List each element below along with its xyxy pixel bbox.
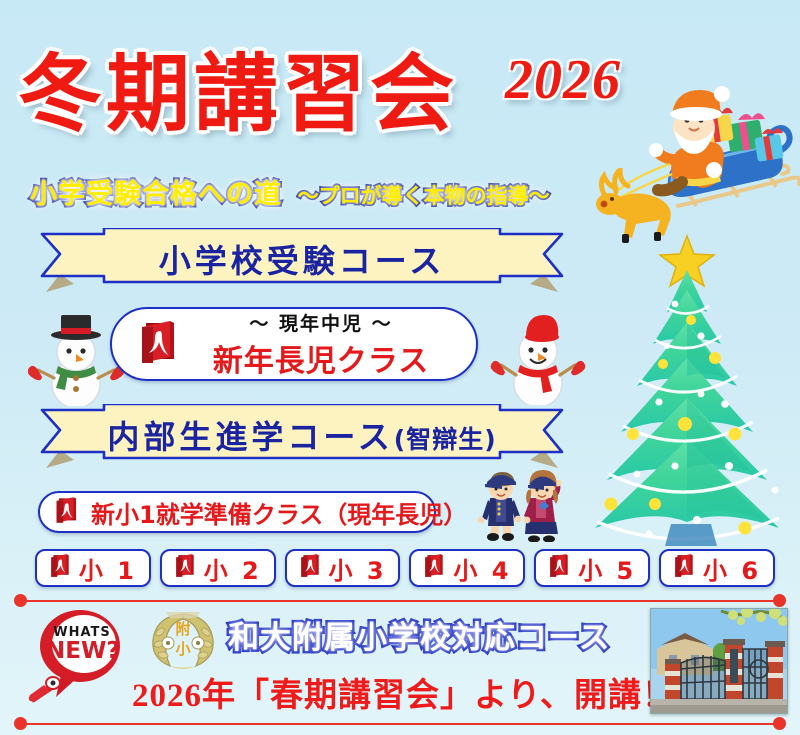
news-divider-bottom — [14, 717, 786, 731]
pdf-icon — [174, 553, 198, 583]
grade-button[interactable]: 小 6 — [659, 549, 775, 587]
svg-text:附: 附 — [175, 620, 190, 638]
snowman-tophat-icon — [28, 308, 124, 406]
christmas-tree-icon — [575, 228, 800, 558]
pdf-icon — [423, 553, 447, 583]
class-main-label: 新年長児クラス — [192, 336, 450, 380]
prep-class-label: 新小1就学準備クラス（現年長児） — [91, 495, 467, 530]
pdf-icon — [673, 553, 697, 583]
grade-button[interactable]: 小 1 — [35, 549, 151, 587]
pdf-icon — [138, 319, 182, 370]
school-emblem-icon: 附 小 — [144, 606, 222, 674]
new-nencho-labels: ～ 現年中児 ～ 新年長児クラス — [192, 309, 450, 380]
class-sub-label: ～ 現年中児 ～ — [192, 309, 450, 336]
news-title: 和大附属小学校対応コース — [228, 612, 610, 657]
pdf-icon — [299, 553, 323, 583]
course-banner-1: 小学校受験コース — [22, 228, 582, 292]
pdf-icon — [548, 553, 572, 583]
pdf-icon — [54, 496, 81, 529]
grade-label: 小 4 — [453, 551, 511, 586]
subtitle-tagline: ～プロが導く本物の指導～ — [298, 184, 550, 208]
grade-button[interactable]: 小 4 — [409, 549, 525, 587]
schoolchildren-icon — [468, 470, 578, 542]
grade-label: 小 6 — [703, 551, 761, 586]
banner-1-text: 小学校受験コース — [22, 236, 582, 282]
school-gate-photo — [650, 608, 788, 714]
subtitle: 小学受験合格への道 ～プロが導く本物の指導～ — [30, 172, 550, 211]
svg-text:小: 小 — [175, 640, 190, 658]
grade-button[interactable]: 小 2 — [160, 549, 276, 587]
poster-canvas: 2026 冬期講習会 小学受験合格への道 ～プロが導く本物の指導～ — [0, 0, 800, 735]
whats-new-badge: WHATS NEW? — [26, 603, 130, 703]
grade-button[interactable]: 小 3 — [285, 549, 401, 587]
grade-button-row: 小 1 小 2 — [35, 549, 775, 587]
prep-class-button[interactable]: 新小1就学準備クラス（現年長児） — [38, 491, 436, 533]
grade-label: 小 2 — [204, 551, 262, 586]
pdf-icon — [49, 553, 73, 583]
grade-button[interactable]: 小 5 — [534, 549, 650, 587]
grade-label: 小 5 — [578, 551, 636, 586]
snowman-santahat-icon — [490, 305, 586, 405]
course-banner-2: 内部生進学コース(智辯生) — [22, 404, 582, 468]
banner-2-text: 内部生進学コース(智辯生) — [22, 412, 582, 458]
page-title: 冬期講習会 — [18, 52, 538, 136]
grade-label: 小 3 — [329, 551, 387, 586]
whats-new-line2: NEW? — [46, 638, 118, 664]
subtitle-main: 小学受験合格への道 — [30, 179, 282, 210]
grade-label: 小 1 — [79, 551, 137, 586]
new-nencho-class-button[interactable]: ～ 現年中児 ～ 新年長児クラス — [110, 307, 478, 381]
news-subtitle: 2026年「春期講習会」より、開講！ — [132, 668, 676, 716]
